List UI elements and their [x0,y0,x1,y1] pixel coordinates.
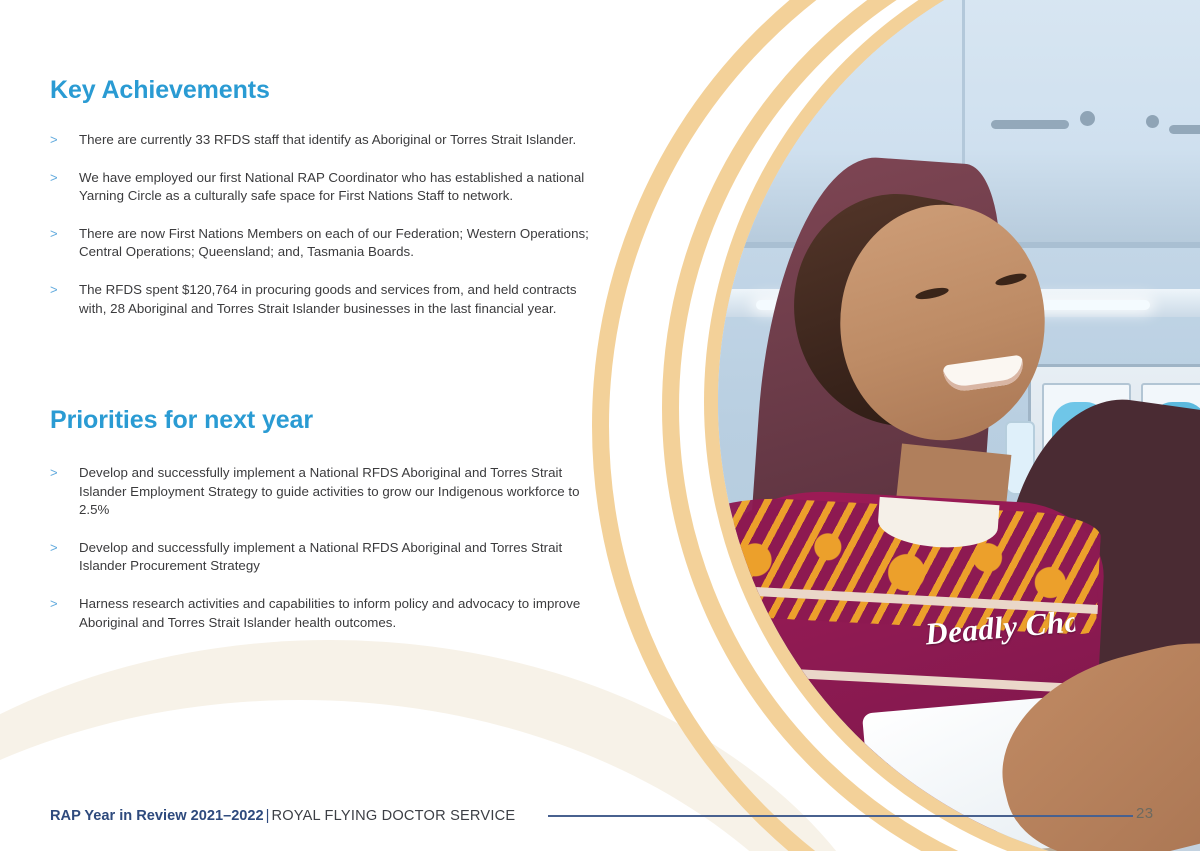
list-item-text: Develop and successfully implement a Nat… [79,465,580,517]
page-title-priorities: Priorities for next year [50,406,313,435]
list-item: > Harness research activities and capabi… [50,595,590,632]
chevron-right-icon: > [50,225,58,244]
list-item-text: There are now First Nations Members on e… [79,226,589,260]
chevron-right-icon: > [50,539,58,558]
list-item-text: The RFDS spent $120,764 in procuring goo… [79,282,577,316]
list-item: > The RFDS spent $120,764 in procuring g… [50,281,590,318]
page-canvas: Deadly Choices Key Achievements > There … [0,0,1200,851]
photo-cabinet-handle [991,120,1069,129]
hero-photo: Deadly Choices [718,0,1200,851]
list-item-text: There are currently 33 RFDS staff that i… [79,132,576,147]
chevron-right-icon: > [50,595,58,614]
list-item: > Develop and successfully implement a N… [50,539,590,576]
photo-cabinet-knob [1080,111,1095,126]
hero-photo-circle: Deadly Choices [718,0,1200,851]
list-item: > Develop and successfully implement a N… [50,464,590,520]
chevron-right-icon: > [50,464,58,483]
list-item: > There are currently 33 RFDS staff that… [50,131,590,150]
priorities-bullet-list: > Develop and successfully implement a N… [50,464,590,632]
chevron-right-icon: > [50,281,58,300]
page-number: 23 [1136,805,1154,822]
photo-cabinet-handle [1169,125,1200,134]
footer-organisation: ROYAL FLYING DOCTOR SERVICE [271,808,515,824]
footer-report-title: RAP Year in Review 2021–2022 [50,808,264,824]
list-item-text: We have employed our first National RAP … [79,170,584,204]
page-footer: RAP Year in Review 2021–2022|ROYAL FLYIN… [0,791,1200,851]
page-title-key-achievements: Key Achievements [50,76,270,105]
chevron-right-icon: > [50,131,58,150]
list-item-text: Harness research activities and capabili… [79,596,580,630]
photo-cabinet-knob [1146,115,1159,128]
key-achievements-bullet-list: > There are currently 33 RFDS staff that… [50,131,590,318]
footer-divider-rule [548,815,1133,817]
footer-text: RAP Year in Review 2021–2022|ROYAL FLYIN… [50,807,515,825]
chevron-right-icon: > [50,169,58,188]
list-item: > There are now First Nations Members on… [50,225,590,262]
list-item-text: Develop and successfully implement a Nat… [79,540,562,574]
list-item: > We have employed our first National RA… [50,169,590,206]
